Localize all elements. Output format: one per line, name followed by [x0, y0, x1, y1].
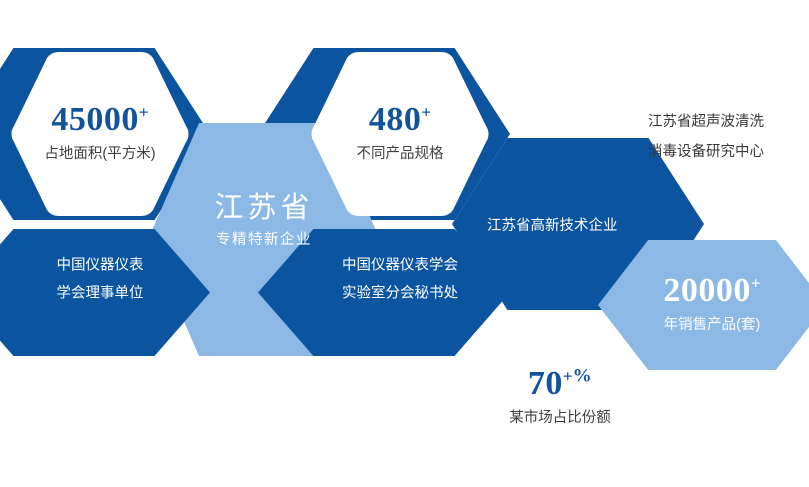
- stat-specs-superscript: +: [421, 103, 431, 122]
- honor-high-tech-label: 江苏省高新技术企业: [487, 214, 618, 235]
- stat-area: 45000+ 占地面积(平方米): [10, 100, 190, 163]
- stat-area-superscript: +: [139, 103, 149, 122]
- stat-market-share: 70+% 某市场占比份额: [470, 364, 650, 427]
- honor-instrument-society: 中国仪器仪表 学会理事单位: [10, 252, 190, 307]
- brand-hex-text: 江苏省 专精特新企业: [148, 190, 380, 249]
- stat-market-share-value: 70: [528, 365, 563, 402]
- stat-market-share-superscript: +: [563, 367, 573, 386]
- stat-annual-sales-value-wrap: 20000+: [598, 271, 809, 312]
- brand-hex-subtitle: 专精特新企业: [148, 228, 380, 249]
- honor-lab-branch: 中国仪器仪表学会 实验室分会秘书处: [294, 252, 506, 307]
- stat-annual-sales-value: 20000: [663, 272, 751, 309]
- stat-annual-sales-superscript: +: [751, 274, 761, 293]
- stat-specs: 480+ 不同产品规格: [310, 100, 490, 163]
- stat-market-share-value-wrap: 70+%: [470, 364, 650, 405]
- stat-area-value-wrap: 45000+: [10, 100, 190, 141]
- brand-hex-title: 江苏省: [148, 190, 380, 226]
- honor-instrument-society-line-1: 中国仪器仪表: [10, 252, 190, 280]
- honor-lab-branch-line-2: 实验室分会秘书处: [294, 280, 506, 308]
- infographic-canvas: 45000+ 占地面积(平方米) 480+ 不同产品规格 江苏省 专精特新企业 …: [0, 0, 809, 487]
- honor-lab-branch-line-1: 中国仪器仪表学会: [294, 252, 506, 280]
- stat-specs-value: 480: [369, 101, 422, 138]
- stat-specs-label: 不同产品规格: [310, 146, 490, 163]
- stat-market-share-label: 某市场占比份额: [470, 410, 650, 427]
- stat-area-value: 45000: [51, 101, 139, 138]
- stat-annual-sales-label: 年销售产品(套): [598, 317, 809, 334]
- stat-market-share-percent: %: [573, 366, 593, 387]
- stat-specs-value-wrap: 480+: [310, 100, 490, 141]
- side-note-research-center: 江苏省超声波清洗 消毒设备研究中心: [648, 107, 764, 168]
- stat-area-label: 占地面积(平方米): [10, 146, 190, 163]
- stat-annual-sales: 20000+ 年销售产品(套): [598, 271, 809, 334]
- side-note-line-1: 江苏省超声波清洗: [648, 107, 764, 137]
- honor-instrument-society-line-2: 学会理事单位: [10, 280, 190, 308]
- side-note-line-2: 消毒设备研究中心: [648, 137, 764, 167]
